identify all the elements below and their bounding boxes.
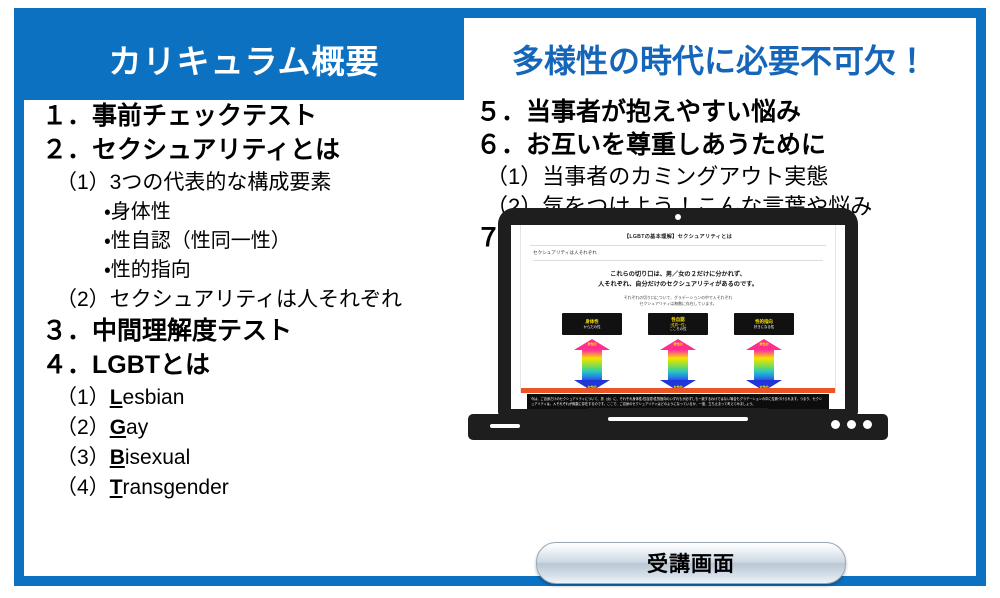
curriculum-bullet: ・性自認（性同一性） xyxy=(104,231,462,251)
curriculum-item: ２．セクシュアリティとは xyxy=(42,138,462,163)
axis-box-orientation: 性的指向 好きになる性 xyxy=(734,313,794,335)
gradient-arrow-icon: 男性的 女性的 xyxy=(562,339,622,391)
curriculum-subitem: （2）セクシュアリティは人それぞれ xyxy=(56,289,462,310)
gradient-arrow-icon: 男性的 女性的 xyxy=(734,339,794,391)
lgbt-item-transgender: （4）Transgender xyxy=(56,477,462,498)
base-dash-marker xyxy=(490,424,520,428)
lgbt-prefix: （4） xyxy=(56,476,110,499)
webcam-icon xyxy=(675,214,681,220)
curriculum-bullet: ・身体性 xyxy=(104,202,462,222)
lgbt-rest: ay xyxy=(126,416,148,439)
lgbt-key-letter: T xyxy=(110,476,123,499)
base-dot-icon xyxy=(831,420,840,429)
curriculum-item: ３．中間理解度テスト xyxy=(42,319,462,344)
base-dot-icon xyxy=(847,420,856,429)
header-right-title: 多様性の時代に必要不可欠！ xyxy=(512,36,928,82)
curriculum-item: １．事前チェックテスト xyxy=(42,104,462,129)
lgbt-prefix: （3） xyxy=(56,446,110,469)
axis-box-row: 身体性 からだの性 性自認 （性同一性） こころの性 性的指向 好きになる性 xyxy=(521,313,835,335)
lgbt-rest: esbian xyxy=(123,386,185,409)
lgbt-prefix: （2） xyxy=(56,416,110,439)
curriculum-item: ６．お互いを尊重しあうために xyxy=(476,133,976,158)
arrow-shaft xyxy=(754,348,774,382)
lgbt-prefix: （1） xyxy=(56,386,110,409)
axis-box-caption: こころの性 xyxy=(670,327,687,331)
lgbt-rest: isexual xyxy=(125,446,190,469)
base-dot-icon xyxy=(863,420,872,429)
curriculum-item: ５．当事者が抱えやすい悩み xyxy=(476,100,976,125)
laptop-screen: 【LGBTの基本理解】セクシュアリティとは セクシュアリティは人それぞれ これら… xyxy=(511,225,845,409)
laptop-lid: 【LGBTの基本理解】セクシュアリティとは セクシュアリティは人それぞれ これら… xyxy=(498,208,858,416)
lgbt-key-letter: L xyxy=(110,386,123,409)
axis-box-caption: 好きになる性 xyxy=(754,325,774,329)
elearning-lead-line1: これらの切り口は、男／女の２だけに分かれず、 xyxy=(521,270,835,280)
header-left-title: カリキュラム概要 xyxy=(108,35,379,83)
elearning-black-band: 今は、ご自身だけのセクシュアリティについて、男（女）に、それぞれ身体性・性自認・… xyxy=(527,394,829,409)
lgbt-key-letter: B xyxy=(110,446,125,469)
axis-box-caption: からだの性 xyxy=(584,325,601,329)
curriculum-subitem: （1）当事者のカミングアウト実態 xyxy=(486,166,976,188)
curriculum-item: ４．LGBTとは xyxy=(42,353,462,378)
arrow-shaft xyxy=(668,348,688,382)
arrow-shaft xyxy=(582,348,602,382)
elearning-lead: これらの切り口は、男／女の２だけに分かれず、 人それぞれ、自分だけのセクシュアリ… xyxy=(521,270,835,289)
elearning-page: 【LGBTの基本理解】セクシュアリティとは セクシュアリティは人それぞれ これら… xyxy=(520,225,836,393)
elearning-lead-line2: 人それぞれ、自分だけのセクシュアリティがあるのです。 xyxy=(521,280,835,290)
lgbt-rest: ransgender xyxy=(123,476,229,499)
elearning-note-line2: セクシュアリティは無数に存在しています。 xyxy=(521,301,835,307)
gradient-arrow-icon: 男性的 女性的 xyxy=(648,339,708,391)
header-left-banner: カリキュラム概要 xyxy=(24,18,464,100)
axis-box-identity: 性自認 （性同一性） こころの性 xyxy=(648,313,708,335)
arrow-top-label: 男性的 xyxy=(648,342,708,346)
axis-box-body: 身体性 からだの性 xyxy=(562,313,622,335)
lgbt-item-bisexual: （3）Bisexual xyxy=(56,447,462,468)
lgbt-item-gay: （2）Gay xyxy=(56,417,462,438)
elearning-section-label: セクシュアリティは人それぞれ xyxy=(521,246,835,256)
lgbt-item-lesbian: （1）Lesbian xyxy=(56,387,462,408)
divider xyxy=(533,260,823,261)
lgbt-key-letter: G xyxy=(110,416,126,439)
arrow-top-label: 男性的 xyxy=(562,342,622,346)
laptop-illustration: 【LGBTの基本理解】セクシュアリティとは セクシュアリティは人それぞれ これら… xyxy=(468,208,888,458)
base-dot-markers xyxy=(831,420,872,429)
caption-label: 受講画面 xyxy=(647,548,735,578)
slide-frame: カリキュラム概要 多様性の時代に必要不可欠！ １．事前チェックテスト ２．セクシ… xyxy=(14,8,986,586)
trackpad-slot xyxy=(608,417,748,421)
curriculum-left-column: １．事前チェックテスト ２．セクシュアリティとは （1）3つの代表的な構成要素 … xyxy=(42,104,462,507)
header-right-banner: 多様性の時代に必要不可欠！ xyxy=(464,18,976,100)
arrow-top-label: 男性的 xyxy=(734,342,794,346)
curriculum-bullet: ・性的指向 xyxy=(104,260,462,280)
orange-footer-bar xyxy=(521,388,835,393)
gradient-arrow-row: 男性的 女性的 男性的 女性的 xyxy=(521,339,835,391)
curriculum-subitem: （1）3つの代表的な構成要素 xyxy=(56,172,462,193)
caption-pill: 受講画面 xyxy=(536,542,846,584)
elearning-page-title: 【LGBTの基本理解】セクシュアリティとは xyxy=(521,225,835,240)
elearning-note: それぞれの切り口について、グラデーションの中で人それぞれ セクシュアリティは無数… xyxy=(521,295,835,307)
